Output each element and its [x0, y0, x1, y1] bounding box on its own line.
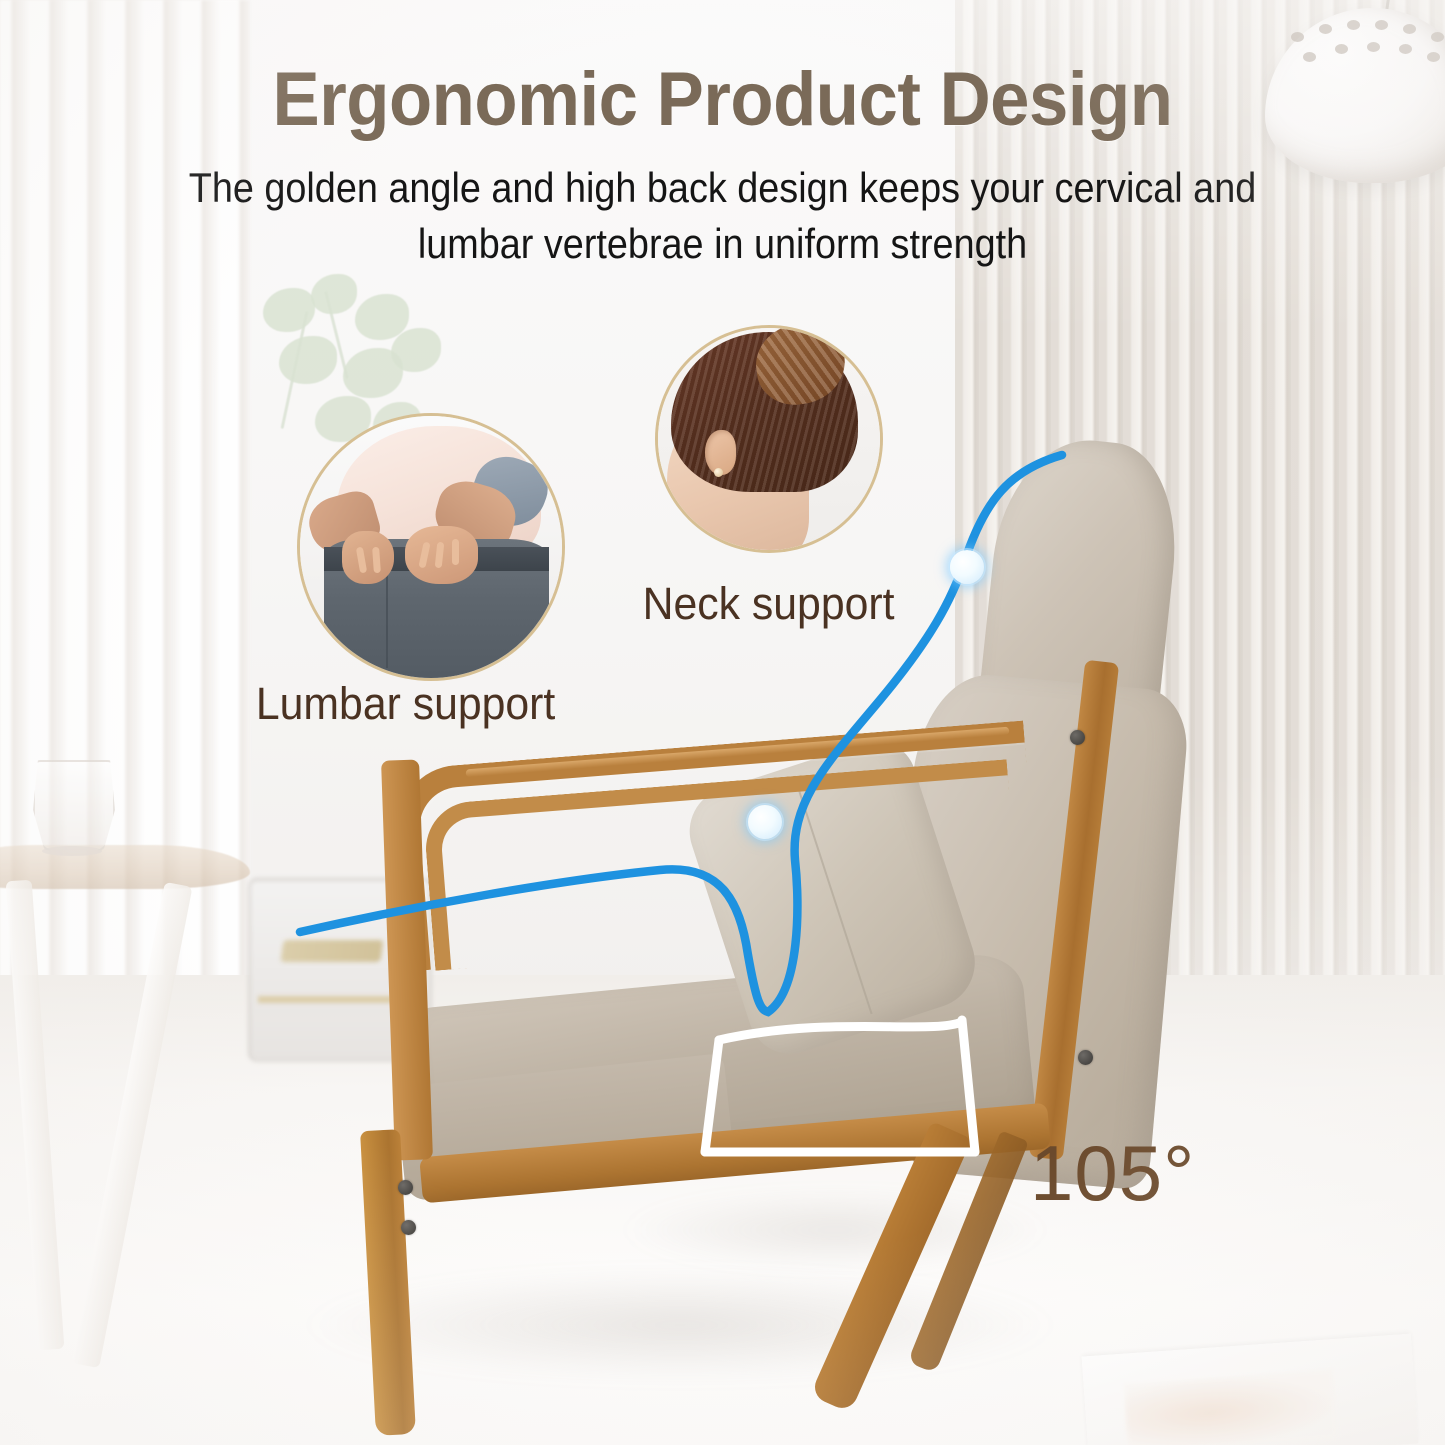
neck-support-inset: [658, 328, 880, 550]
lumbar-support-inset: [300, 416, 562, 678]
drinking-glass: [33, 760, 115, 856]
glass-base: [42, 846, 102, 856]
frame-bolt-3: [1070, 730, 1085, 745]
frame-bolt-4: [1078, 1050, 1093, 1065]
neck-support-label: Neck support: [643, 578, 895, 630]
page-title: Ergonomic Product Design: [51, 56, 1395, 143]
recline-angle-label: 105°: [1030, 1128, 1195, 1219]
product-infographic: Ergonomic Product Design The golden angl…: [0, 0, 1445, 1445]
curve-node-lumbar: [748, 805, 782, 839]
frame-bolt-1: [398, 1180, 413, 1195]
lumbar-photo-subject: [300, 416, 562, 678]
curve-node-neck: [950, 550, 984, 584]
page-subtitle: The golden angle and high back design ke…: [153, 160, 1292, 272]
side-table-top: [0, 845, 250, 889]
neck-photo-subject: [658, 328, 880, 550]
frame-bolt-2: [401, 1220, 416, 1235]
lumbar-support-label: Lumbar support: [256, 678, 555, 730]
